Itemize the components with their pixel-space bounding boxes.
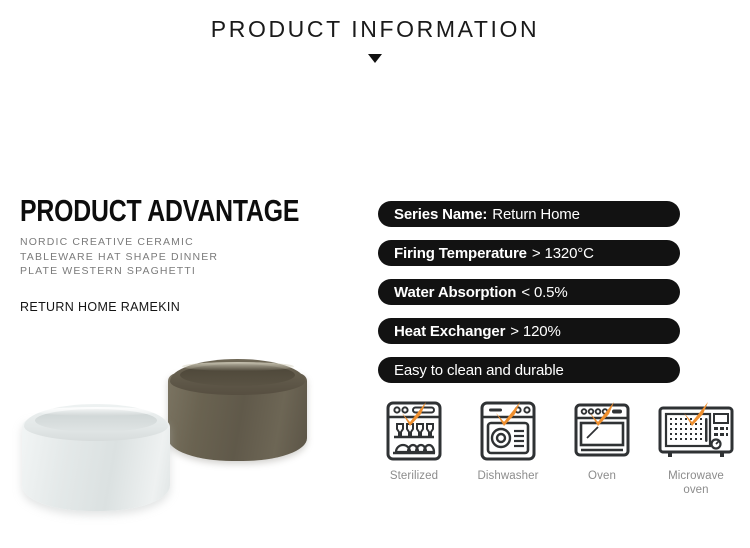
microwave-oven-icon (654, 400, 738, 466)
spec-badge-series-name: Series Name: Return Home (378, 201, 680, 227)
spec-badge-heat-exchanger: Heat Exchanger > 120% (378, 318, 680, 344)
product-advantage-block: PRODUCT ADVANTAGE NORDIC CREATIVE CERAMI… (20, 194, 350, 314)
spec-label: Water Absorption (394, 284, 516, 301)
product-name: RETURN HOME RAMEKIN (20, 300, 350, 314)
dishwasher-icon (466, 400, 550, 466)
feature-oven: Oven (560, 400, 644, 497)
spec-label: Heat Exchanger (394, 323, 505, 340)
advantage-heading: PRODUCT ADVANTAGE (20, 194, 284, 227)
sterilizer-cabinet-icon (372, 400, 456, 466)
spec-badge-easy-to-clean: Easy to clean and durable (378, 357, 680, 383)
spec-badge-water-absorption: Water Absorption < 0.5% (378, 279, 680, 305)
spec-value: > 1320°C (532, 245, 594, 262)
advantage-description: NORDIC CREATIVE CERAMIC TABLEWARE HAT SH… (20, 235, 350, 279)
feature-icon-row: Sterilized Dishwasher (372, 400, 738, 497)
product-photo (0, 330, 345, 548)
olive-ramekin (168, 359, 307, 464)
olive-ramekin-highlight (182, 362, 294, 371)
page-header: PRODUCT INFORMATION (0, 14, 750, 63)
spec-label: Series Name: (394, 206, 487, 223)
white-ramekin (22, 404, 170, 516)
feature-caption: Dishwasher (466, 469, 550, 483)
page-title: PRODUCT INFORMATION (0, 14, 750, 44)
advantage-description-line: PLATE WESTERN SPAGHETTI (20, 264, 350, 279)
feature-dishwasher: Dishwasher (466, 400, 550, 497)
advantage-description-line: TABLEWARE HAT SHAPE DINNER (20, 250, 350, 265)
feature-caption: Oven (560, 469, 644, 483)
spec-value: Easy to clean and durable (394, 362, 564, 379)
feature-sterilized: Sterilized (372, 400, 456, 497)
spec-label: Firing Temperature (394, 245, 527, 262)
specification-list: Series Name: Return Home Firing Temperat… (378, 201, 680, 396)
spec-value: < 0.5% (521, 284, 567, 301)
white-ramekin-highlight (37, 407, 156, 416)
check-mark-icon (399, 400, 429, 426)
caret-down-icon (368, 54, 382, 63)
feature-microwave-oven: Microwave oven (654, 400, 738, 497)
feature-caption: Microwave oven (654, 469, 738, 497)
feature-caption: Sterilized (372, 469, 456, 483)
spec-value: Return Home (492, 206, 580, 223)
check-mark-icon (681, 400, 711, 426)
check-mark-icon (493, 400, 523, 426)
spec-badge-firing-temperature: Firing Temperature > 1320°C (378, 240, 680, 266)
spec-value: > 120% (510, 323, 560, 340)
check-mark-icon (587, 400, 617, 426)
advantage-description-line: NORDIC CREATIVE CERAMIC (20, 235, 350, 250)
oven-icon (560, 400, 644, 466)
